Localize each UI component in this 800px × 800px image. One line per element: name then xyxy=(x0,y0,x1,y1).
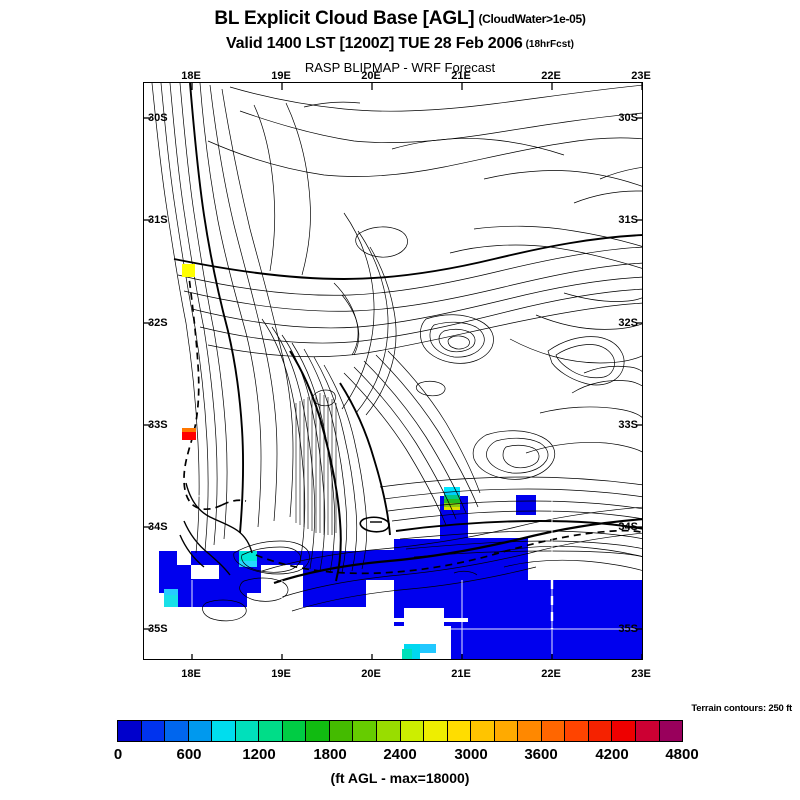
axis-label-lon-bot-22e: 22E xyxy=(541,668,561,680)
colorbar-segment-14 xyxy=(448,721,472,741)
map-inner: 30S 31S 32S 33S 34S 35S 30S 31S 32S 33S … xyxy=(144,83,642,659)
colorbar-segment-23 xyxy=(660,721,683,741)
valid-time-text: Valid 1400 LST [1200Z] TUE 28 Feb 2006 xyxy=(226,35,523,52)
title-main-text: BL Explicit Cloud Base [AGL] xyxy=(214,8,474,29)
map-label-lat-34s-inner: 34S xyxy=(148,521,168,533)
colorbar-segment-5 xyxy=(236,721,260,741)
axis-label-lon-bot-19e: 19E xyxy=(271,668,291,680)
colorbar-segment-12 xyxy=(401,721,425,741)
colorbar-tick-2400: 2400 xyxy=(383,746,416,763)
colorbar-segment-6 xyxy=(259,721,283,741)
colorbar-segment-19 xyxy=(565,721,589,741)
model-line: RASP BLIPMAP - WRF Forecast xyxy=(0,59,800,77)
colorbar-segment-3 xyxy=(189,721,213,741)
colorbar-segment-2 xyxy=(165,721,189,741)
colorbar-segment-0 xyxy=(118,721,142,741)
colorbar-tick-1200: 1200 xyxy=(242,746,275,763)
colorbar-segment-11 xyxy=(377,721,401,741)
colorbar-segment-22 xyxy=(636,721,660,741)
map-label-lat-31s-inner: 31S xyxy=(148,214,168,226)
map-label-lat-33s-inner: 33S xyxy=(148,419,168,431)
axis-label-lon-top-22e: 22E xyxy=(541,70,561,82)
colorbar-segment-8 xyxy=(306,721,330,741)
valid-time-line: Valid 1400 LST [1200Z] TUE 28 Feb 2006(1… xyxy=(0,35,800,53)
colorbar-tick-3600: 3600 xyxy=(524,746,557,763)
map-graphics xyxy=(144,83,643,660)
colorbar-segment-7 xyxy=(283,721,307,741)
axis-label-lon-bot-20e: 20E xyxy=(361,668,381,680)
axis-label-lon-top-18e: 18E xyxy=(181,70,201,82)
colorbar-tick-4200: 4200 xyxy=(595,746,628,763)
colorbar-segment-17 xyxy=(518,721,542,741)
map-label-lat-32s-right: 32S xyxy=(618,317,638,329)
colorbar-segment-10 xyxy=(353,721,377,741)
page-title: BL Explicit Cloud Base [AGL](CloudWater>… xyxy=(0,8,800,30)
map-label-lat-35s-inner: 35S xyxy=(148,623,168,635)
forecast-hour-tag: (18hrFcst) xyxy=(526,39,574,50)
blipmap-page: BL Explicit Cloud Base [AGL](CloudWater>… xyxy=(0,0,800,800)
axis-label-lon-top-20e: 20E xyxy=(361,70,381,82)
colorbar-segment-21 xyxy=(612,721,636,741)
colorbar-tick-600: 600 xyxy=(176,746,201,763)
map-label-lat-35s-right: 35S xyxy=(618,623,638,635)
axis-label-lon-bot-23e: 23E xyxy=(631,668,651,680)
colorbar-segment-4 xyxy=(212,721,236,741)
colorbar-segment-13 xyxy=(424,721,448,741)
colorbar-tick-4800: 4800 xyxy=(665,746,698,763)
axis-label-lon-top-23e: 23E xyxy=(631,70,651,82)
axis-label-lon-top-19e: 19E xyxy=(271,70,291,82)
map-label-lat-30s-right: 30S xyxy=(618,112,638,124)
map-label-lat-32s-inner: 32S xyxy=(148,317,168,329)
colorbar-segment-18 xyxy=(542,721,566,741)
forecast-map[interactable]: 30S 31S 32S 33S 34S 35S 30S 31S 32S 33S … xyxy=(143,82,643,660)
map-label-lat-33s-right: 33S xyxy=(618,419,638,431)
colorbar-tick-3000: 3000 xyxy=(454,746,487,763)
station-marker-yellow[interactable] xyxy=(182,264,195,277)
axis-label-lon-bot-18e: 18E xyxy=(181,668,201,680)
colorbar-units-label: (ft AGL - max=18000) xyxy=(0,770,800,786)
station-marker-red[interactable] xyxy=(182,428,196,440)
title-qualifier-text: (CloudWater>1e-05) xyxy=(478,12,585,26)
colorbar[interactable] xyxy=(117,720,683,742)
colorbar-tick-1800: 1800 xyxy=(313,746,346,763)
map-label-lat-31s-right: 31S xyxy=(618,214,638,226)
colorbar-tick-0: 0 xyxy=(114,746,122,763)
cloudbase-fill-layer xyxy=(159,487,643,660)
terrain-contour-note: Terrain contours: 250 ft xyxy=(691,703,792,714)
map-label-lat-30s-inner: 30S xyxy=(148,112,168,124)
colorbar-segment-1 xyxy=(142,721,166,741)
colorbar-segment-15 xyxy=(471,721,495,741)
colorbar-segment-16 xyxy=(495,721,519,741)
colorbar-segment-20 xyxy=(589,721,613,741)
map-label-lat-34s-right: 34S xyxy=(618,521,638,533)
colorbar-tick-labels: 0 600 1200 1800 2400 3000 3600 4200 4800 xyxy=(0,746,800,764)
axis-label-lon-top-21e: 21E xyxy=(451,70,471,82)
colorbar-segment-9 xyxy=(330,721,354,741)
axis-label-lon-bot-21e: 21E xyxy=(451,668,471,680)
